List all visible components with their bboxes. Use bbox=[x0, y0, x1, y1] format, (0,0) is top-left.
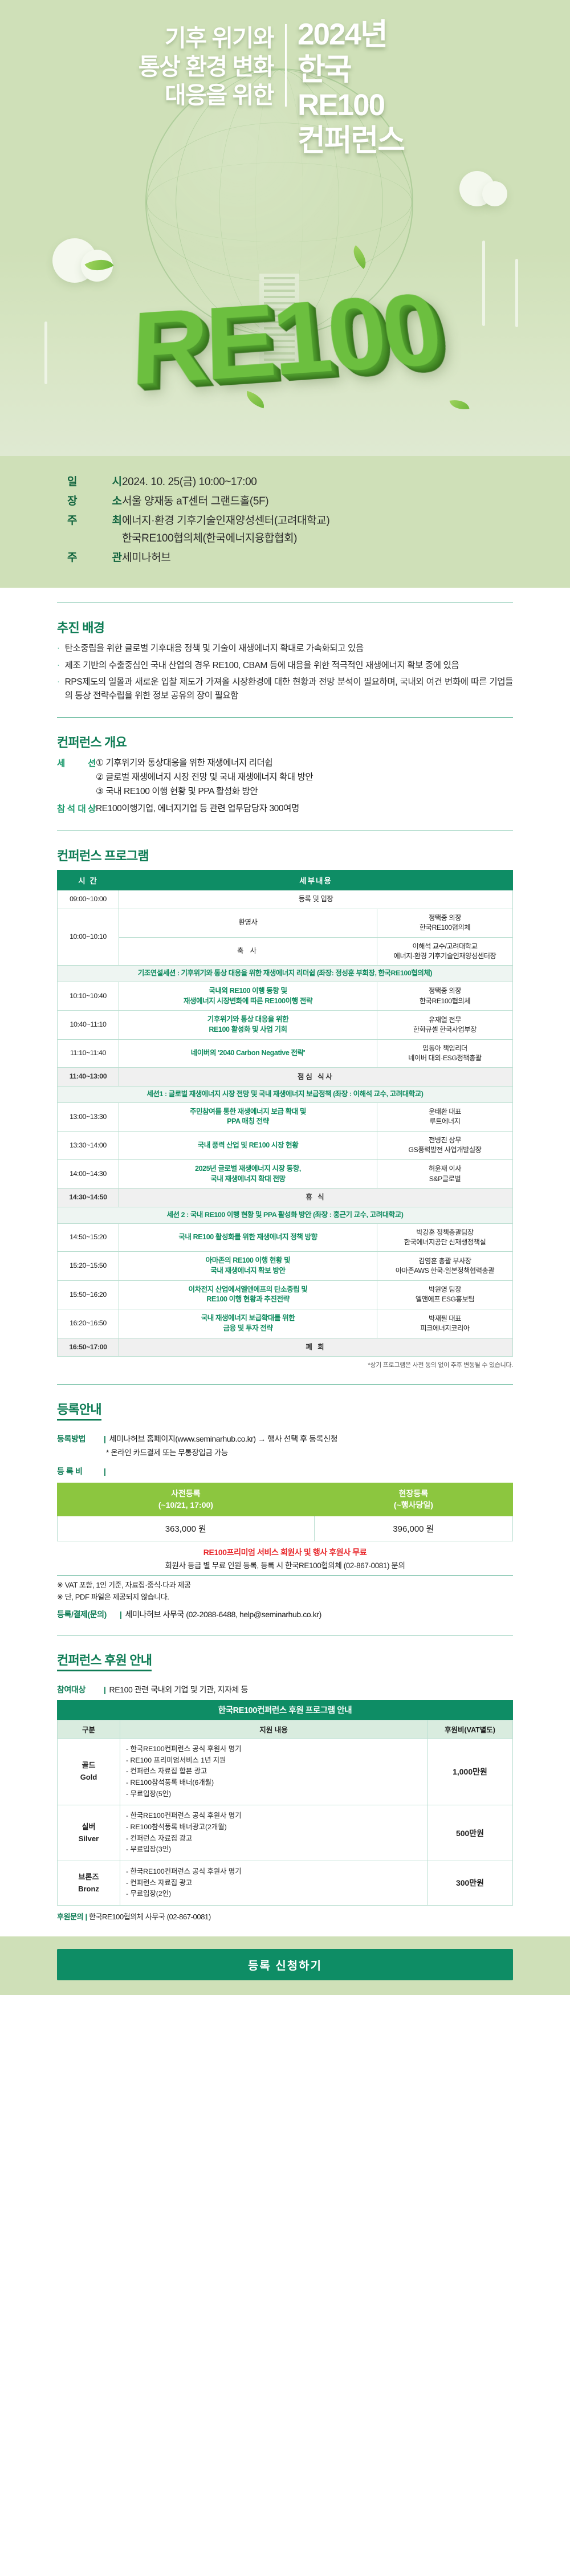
table-row: 16:20~16:50 국내 재생에너지 보급확대를 위한 금융 및 투자 전략… bbox=[58, 1309, 513, 1338]
overview-target-row: 참 석 대 상 RE100이행기업, 에너지기업 등 관련 업무담당자 300여… bbox=[57, 802, 513, 816]
re100-logo-graphic: RE100 bbox=[22, 258, 552, 418]
fee-value-onsite: 396,000 원 bbox=[314, 1516, 512, 1541]
label-separator-icon: | bbox=[104, 1685, 106, 1694]
table-row: 10:00~10:10 환영사 정택중 의장 한국RE100협의체 bbox=[58, 909, 513, 937]
program-speaker: 임동아 책임리더 네이버 대외·ESG정책총괄 bbox=[377, 1039, 513, 1068]
fee-header-early: 사전등록 (~10/21, 17:00) bbox=[58, 1483, 315, 1516]
registration-divider bbox=[57, 1384, 513, 1385]
fee-free-notice: RE100프리미엄 서비스 회원사 및 행사 후원사 무료 bbox=[57, 1541, 513, 1558]
table-row: 10:40~11:10 기후위기와 통상 대응을 위한 RE100 활성화 및 … bbox=[58, 1011, 513, 1040]
program-topic: 국내 재생에너지 보급확대를 위한 금융 및 투자 전략 bbox=[119, 1309, 377, 1338]
event-info-value-date: 2024. 10. 25(금) 10:00~17:00 bbox=[122, 473, 256, 489]
leaf-icon bbox=[450, 397, 470, 412]
registration-fee-row: 등 록 비 | bbox=[57, 1466, 513, 1477]
program-time: 13:00~13:30 bbox=[58, 1102, 119, 1132]
re100-logo-text: RE100 bbox=[129, 273, 448, 410]
program-time: 14:50~15:20 bbox=[58, 1223, 119, 1252]
label-separator-icon: | bbox=[104, 1467, 106, 1476]
sponsorship-eligibility-value: RE100 관련 국내외 기업 및 기관, 지자체 등 bbox=[109, 1684, 248, 1695]
background-bullet-item: · 탄소중립을 위한 글로벌 기후대응 정책 및 기술이 재생에너지 확대로 가… bbox=[57, 642, 513, 656]
sponsorship-header-row: 구분 지원 내용 후원비(VAT별도) bbox=[58, 1720, 513, 1739]
table-row: 09:00~10:00 등록 및 입장 bbox=[58, 890, 513, 909]
fee-table: 사전등록 (~10/21, 17:00) 현장등록 (~행사당일) 363,00… bbox=[57, 1483, 513, 1541]
fee-table-head: 사전등록 (~10/21, 17:00) 현장등록 (~행사당일) bbox=[58, 1483, 513, 1516]
table-row: 14:50~15:20 국내 RE100 활성화를 위한 재생에너지 정책 방향… bbox=[58, 1223, 513, 1252]
label-separator-icon: | bbox=[104, 1434, 106, 1443]
program-topic: 2025년 글로벌 재생에너지 시장 동향, 국내 재생에너지 확대 전망 bbox=[119, 1159, 377, 1189]
background-bullet-text: 탄소중립을 위한 글로벌 기후대응 정책 및 기술이 재생에너지 확대로 가속화… bbox=[65, 642, 364, 656]
sponsorship-price-bronze: 300만원 bbox=[427, 1861, 513, 1906]
cta-section: 등록 신청하기 bbox=[0, 1936, 570, 1995]
background-bullet-text: 제조 기반의 수출중심인 국내 산업의 경우 RE100, CBAM 등에 대응… bbox=[65, 659, 459, 673]
program-topic: 환영사 bbox=[119, 909, 377, 937]
bullet-dot-icon: · bbox=[57, 659, 60, 673]
program-note: *상기 프로그램은 사전 동의 없이 추후 변동될 수 있습니다. bbox=[57, 1360, 513, 1369]
program-speaker: 유재열 전무 한화큐셀 한국사업부장 bbox=[377, 1011, 513, 1040]
hero-year-line-1: 2024년 bbox=[298, 17, 404, 52]
sponsorship-benefits-silver: - 한국RE100컨퍼런스 공식 후원사 명기 - RE100참석풍록 배너광고… bbox=[120, 1805, 427, 1861]
fee-table-body: 363,000 원 396,000 원 bbox=[58, 1516, 513, 1541]
hero-banner: 기후 위기와 통상 환경 변화 대응을 위한 2024년 한국 RE100 컨퍼… bbox=[0, 0, 570, 456]
sponsorship-contact-row: 후원문의 | 한국RE100협의체 사무국 (02-867-0081) bbox=[57, 1911, 513, 1922]
registration-note-item: ※ VAT 포함, 1인 기준, 자료집·중식·다과 제공 bbox=[57, 1580, 513, 1592]
sponsorship-eligibility-row: 참여대상 | RE100 관련 국내외 기업 및 기관, 지자체 등 bbox=[57, 1684, 513, 1695]
overview-session-item: ① 기후위기와 통상대응을 위한 재생에너지 리더쉽 bbox=[96, 756, 313, 770]
program-speaker: 정택중 의장 한국RE100협의체 bbox=[377, 909, 513, 937]
hero-title: 기후 위기와 통상 환경 변화 대응을 위한 bbox=[74, 24, 274, 109]
background-bullet-item: · RPS제도의 일몰과 새로운 입찰 제도가 가져올 시장환경에 대한 현황과… bbox=[57, 675, 513, 702]
program-speaker: 전병진 상무 GS풍력발전 사업개발실장 bbox=[377, 1132, 513, 1160]
program-topic: 주민참여를 통한 재생에너지 보급 확대 및 PPA 매칭 전략 bbox=[119, 1102, 377, 1132]
registration-fee-label: 등 록 비 bbox=[57, 1466, 100, 1477]
sponsorship-price-gold: 1,000만원 bbox=[427, 1739, 513, 1805]
registration-contact-row: 등록/결제(문의) | 세미나허브 사무국 (02-2088-6488, hel… bbox=[57, 1609, 513, 1620]
hero-title-line-2: 통상 환경 변화 bbox=[74, 52, 274, 81]
program-time: 16:20~16:50 bbox=[58, 1309, 119, 1338]
registration-notes: ※ VAT 포함, 1인 기준, 자료집·중식·다과 제공 ※ 단, PDF 파… bbox=[57, 1580, 513, 1604]
program-speaker: 허윤재 이사 S&P글로벌 bbox=[377, 1159, 513, 1189]
program-session-header-row: 기조연설세션 : 기후위기와 통상 대응을 위한 재생에너지 리더쉽 (좌장: … bbox=[58, 966, 513, 982]
table-row: 15:20~15:50 아마존의 RE100 이행 현황 및 국내 재생에너지 … bbox=[58, 1252, 513, 1281]
registration-note-item: ※ 단, PDF 파일은 제공되지 않습니다. bbox=[57, 1592, 513, 1604]
event-info-row-organizer: 주 관 세미나허브 bbox=[0, 549, 570, 564]
program-session-label: 세션 2 : 국내 RE100 이행 현황 및 PPA 활성화 방안 (좌장 :… bbox=[58, 1207, 513, 1223]
registration-contact-value: 세미나허브 사무국 (02-2088-6488, help@seminarhub… bbox=[125, 1609, 321, 1620]
program-speaker: 박강훈 정책총괄팀장 한국에너지공단 신재생정책실 bbox=[377, 1223, 513, 1252]
sponsorship-table-body: 골드 Gold - 한국RE100컨퍼런스 공식 후원사 명기 - RE100 … bbox=[58, 1739, 513, 1906]
program-divider bbox=[57, 831, 513, 831]
event-info-row-date: 일 시 2024. 10. 25(금) 10:00~17:00 bbox=[0, 473, 570, 489]
table-row: 13:30~14:00 국내 풍력 산업 및 RE100 시장 현황 전병진 상… bbox=[58, 1132, 513, 1160]
event-info-value-host2: 한국RE100협의체(한국에너지융합협회) bbox=[122, 530, 297, 545]
sponsorship-col-benefit: 지원 내용 bbox=[120, 1720, 427, 1739]
background-bullet-list: · 탄소중립을 위한 글로벌 기후대응 정책 및 기술이 재생에너지 확대로 가… bbox=[57, 642, 513, 702]
sponsorship-table-head: 구분 지원 내용 후원비(VAT별도) bbox=[58, 1720, 513, 1739]
sponsorship-col-grade: 구분 bbox=[58, 1720, 120, 1739]
program-topic: 네이버의 '2040 Carbon Negative 전략' bbox=[119, 1039, 377, 1068]
cloud-icon bbox=[482, 181, 507, 206]
sponsorship-table: 한국RE100컨퍼런스 후원 프로그램 안내 구분 지원 내용 후원비(VAT별… bbox=[57, 1700, 513, 1906]
program-time: 14:30~14:50 bbox=[58, 1189, 119, 1207]
event-info-value-organizer: 세미나허브 bbox=[122, 549, 170, 564]
registration-contact-label: 등록/결제(문의) bbox=[57, 1609, 116, 1620]
overview-target-label: 참 석 대 상 bbox=[57, 802, 96, 816]
program-break-row: 14:30~14:50 휴 식 bbox=[58, 1189, 513, 1207]
conference-poster-page: 기후 위기와 통상 환경 변화 대응을 위한 2024년 한국 RE100 컨퍼… bbox=[0, 0, 570, 1995]
sponsorship-contact-label: 후원문의 bbox=[57, 1912, 83, 1921]
program-time: 10:40~11:10 bbox=[58, 1011, 119, 1040]
program-header-row: 시 간 세부내용 bbox=[58, 870, 513, 890]
hero-year-line-2: 한국 bbox=[298, 52, 404, 88]
program-speaker: 박원영 팀장 엘앤에프 ESG홍보팀 bbox=[377, 1280, 513, 1309]
registration-method-value: 세미나허브 홈페이지(www.seminarhub.co.kr) → 행사 선택… bbox=[109, 1433, 338, 1444]
registration-section-title: 등록안내 bbox=[57, 1399, 101, 1421]
program-time: 16:50~17:00 bbox=[58, 1338, 119, 1357]
table-row: 14:00~14:30 2025년 글로벌 재생에너지 시장 동향, 국내 재생… bbox=[58, 1159, 513, 1189]
program-topic: 점심 식사 bbox=[119, 1068, 513, 1086]
registration-method-row: 등록방법 | 세미나허브 홈페이지(www.seminarhub.co.kr) … bbox=[57, 1433, 513, 1444]
table-row: 15:50~16:20 이차전지 산업에서엘앤에프의 탄소중립 및 RE100 … bbox=[58, 1280, 513, 1309]
background-section-title: 추진 배경 bbox=[57, 618, 513, 636]
table-row: 축 사 이해석 교수/고려대학교 에너지·환경 기후기술인재양성센터장 bbox=[58, 937, 513, 966]
hero-year-line-3: RE100 bbox=[298, 88, 404, 123]
hero-event-name: 2024년 한국 RE100 컨퍼런스 bbox=[298, 17, 404, 158]
program-col-detail: 세부내용 bbox=[119, 870, 513, 890]
program-speaker: 이해석 교수/고려대학교 에너지·환경 기후기술인재양성센터장 bbox=[377, 937, 513, 966]
hero-year-line-4: 컨퍼런스 bbox=[298, 123, 404, 158]
bullet-dot-icon: · bbox=[57, 642, 60, 656]
program-table-body: 09:00~10:00 등록 및 입장 10:00~10:10 환영사 정택중 … bbox=[58, 890, 513, 1357]
overview-session-item: ③ 국내 RE100 이행 현황 및 PPA 활성화 방안 bbox=[96, 785, 313, 799]
register-button[interactable]: 등록 신청하기 bbox=[57, 1949, 513, 1980]
program-time: 11:40~13:00 bbox=[58, 1068, 119, 1086]
event-info-label-venue: 장 소 bbox=[67, 493, 122, 508]
program-session-header-row: 세션 2 : 국내 RE100 이행 현황 및 PPA 활성화 방안 (좌장 :… bbox=[58, 1207, 513, 1223]
program-topic: 폐 회 bbox=[119, 1338, 513, 1357]
sponsorship-col-price: 후원비(VAT별도) bbox=[427, 1720, 513, 1739]
table-row: 363,000 원 396,000 원 bbox=[58, 1516, 513, 1541]
background-divider bbox=[57, 603, 513, 603]
program-speaker: 박재필 대표 피크에너지코리아 bbox=[377, 1309, 513, 1338]
fee-header-row: 사전등록 (~10/21, 17:00) 현장등록 (~행사당일) bbox=[58, 1483, 513, 1516]
program-speaker: 윤태환 대표 루트에너지 bbox=[377, 1102, 513, 1132]
bullet-dot-icon: · bbox=[57, 675, 60, 702]
label-separator-icon: | bbox=[120, 1610, 122, 1619]
sponsorship-table-caption: 한국RE100컨퍼런스 후원 프로그램 안내 bbox=[57, 1700, 513, 1720]
overview-divider bbox=[57, 717, 513, 718]
sponsorship-benefits-bronze: - 한국RE100컨퍼런스 공식 후원사 명기 - 컨퍼런스 자료집 광고 - … bbox=[120, 1861, 427, 1906]
program-topic: 아마존의 RE100 이행 현황 및 국내 재생에너지 확보 방안 bbox=[119, 1252, 377, 1281]
program-time: 10:00~10:10 bbox=[58, 909, 119, 965]
sponsorship-price-silver: 500만원 bbox=[427, 1805, 513, 1861]
program-topic: 이차전지 산업에서엘앤에프의 탄소중립 및 RE100 이행 현황과 추진전략 bbox=[119, 1280, 377, 1309]
sponsorship-eligibility-label: 참여대상 bbox=[57, 1684, 100, 1695]
program-topic: 축 사 bbox=[119, 937, 377, 966]
program-topic: 휴 식 bbox=[119, 1189, 513, 1207]
program-topic: 국내 풍력 산업 및 RE100 시장 현황 bbox=[119, 1132, 377, 1160]
background-bullet-text: RPS제도의 일몰과 새로운 입찰 제도가 가져올 시장환경에 대한 현황과 전… bbox=[65, 675, 513, 702]
program-session-label: 기조연설세션 : 기후위기와 통상 대응을 위한 재생에너지 리더쉽 (좌장: … bbox=[58, 966, 513, 982]
overview-section-title: 컨퍼런스 개요 bbox=[57, 732, 513, 751]
program-section-title: 컨퍼런스 프로그램 bbox=[57, 846, 513, 864]
program-time: 14:00~14:30 bbox=[58, 1159, 119, 1189]
sponsorship-grade-gold: 골드 Gold bbox=[58, 1739, 120, 1805]
hero-divider bbox=[285, 24, 287, 107]
fee-notes-divider bbox=[57, 1575, 513, 1576]
program-speaker: 김영훈 총괄 부사장 아마존AWS 한국·일본정책협력총괄 bbox=[377, 1252, 513, 1281]
program-time: 10:10~10:40 bbox=[58, 982, 119, 1011]
event-info-value-host: 에너지·환경 기후기술인재양성센터(고려대학교) bbox=[122, 512, 329, 527]
event-info-row-host: 주 최 에너지·환경 기후기술인재양성센터(고려대학교) bbox=[0, 512, 570, 527]
fee-value-early: 363,000 원 bbox=[58, 1516, 315, 1541]
sponsorship-divider bbox=[57, 1635, 513, 1635]
sponsorship-grade-bronze: 브론즈 Bronz bbox=[58, 1861, 120, 1906]
fee-free-notice-sub: 회원사 등급 별 무료 인원 등록, 등록 시 한국RE100협의체 (02-8… bbox=[57, 1558, 513, 1575]
hero-title-line-1: 기후 위기와 bbox=[74, 24, 274, 52]
program-time: 09:00~10:00 bbox=[58, 890, 119, 909]
table-row: 11:10~11:40 네이버의 '2040 Carbon Negative 전… bbox=[58, 1039, 513, 1068]
sponsorship-contact-value: 한국RE100협의체 사무국 (02-867-0081) bbox=[89, 1912, 211, 1921]
program-time: 11:10~11:40 bbox=[58, 1039, 119, 1068]
program-topic: 국내외 RE100 이행 동향 및 재생에너지 시장변화에 따른 RE100이행… bbox=[119, 982, 377, 1011]
table-row: 10:10~10:40 국내외 RE100 이행 동향 및 재생에너지 시장변화… bbox=[58, 982, 513, 1011]
program-session-label: 세션1 : 글로벌 재생에너지 시장 전망 및 국내 재생에너지 보급정책 (좌… bbox=[58, 1086, 513, 1103]
program-topic: 기후위기와 통상 대응을 위한 RE100 활성화 및 사업 기회 bbox=[119, 1011, 377, 1040]
event-info-label-host: 주 최 bbox=[67, 512, 122, 527]
table-row: 브론즈 Bronz - 한국RE100컨퍼런스 공식 후원사 명기 - 컨퍼런스… bbox=[58, 1861, 513, 1906]
program-topic: 국내 RE100 활성화를 위한 재생에너지 정책 방향 bbox=[119, 1223, 377, 1252]
label-separator-icon: | bbox=[85, 1912, 87, 1921]
event-info-label-organizer: 주 관 bbox=[67, 549, 122, 564]
overview-sessions-row: 세 션 ① 기후위기와 통상대응을 위한 재생에너지 리더쉽 ② 글로벌 재생에… bbox=[57, 756, 513, 799]
program-table: 시 간 세부내용 09:00~10:00 등록 및 입장 10:00~10:10… bbox=[57, 870, 513, 1357]
overview-target-value: RE100이행기업, 에너지기업 등 관련 업무담당자 300여명 bbox=[96, 802, 299, 816]
program-time: 15:20~15:50 bbox=[58, 1252, 119, 1281]
program-col-time: 시 간 bbox=[58, 870, 119, 890]
overview-session-item: ② 글로벌 재생에너지 시장 전망 및 국내 재생에너지 확대 방안 bbox=[96, 771, 313, 784]
overview-sessions-body: ① 기후위기와 통상대응을 위한 재생에너지 리더쉽 ② 글로벌 재생에너지 시… bbox=[96, 756, 313, 799]
table-row: 골드 Gold - 한국RE100컨퍼런스 공식 후원사 명기 - RE100 … bbox=[58, 1739, 513, 1805]
program-table-head: 시 간 세부내용 bbox=[58, 870, 513, 890]
program-break-row: 16:50~17:00 폐 회 bbox=[58, 1338, 513, 1357]
event-info-row-host2: ·· 한국RE100협의체(한국에너지융합협회) bbox=[0, 530, 570, 545]
program-time: 15:50~16:20 bbox=[58, 1280, 119, 1309]
registration-method-subnote: * 온라인 카드결제 또는 무통장입금 가능 bbox=[106, 1446, 513, 1458]
program-speaker: 정택중 의장 한국RE100협의체 bbox=[377, 982, 513, 1011]
hero-title-line-3: 대응을 위한 bbox=[74, 81, 274, 109]
sponsorship-grade-silver: 실버 Silver bbox=[58, 1805, 120, 1861]
table-row: 실버 Silver - 한국RE100컨퍼런스 공식 후원사 명기 - RE10… bbox=[58, 1805, 513, 1861]
registration-method-label: 등록방법 bbox=[57, 1433, 100, 1444]
overview-sessions-label: 세 션 bbox=[57, 756, 96, 799]
event-info-label-date: 일 시 bbox=[67, 473, 122, 489]
program-break-row: 11:40~13:00 점심 식사 bbox=[58, 1068, 513, 1086]
fee-header-onsite: 현장등록 (~행사당일) bbox=[314, 1483, 512, 1516]
main-content: 추진 배경 · 탄소중립을 위한 글로벌 기후대응 정책 및 기술이 재생에너지… bbox=[0, 603, 570, 1922]
sponsorship-benefits-gold: - 한국RE100컨퍼런스 공식 후원사 명기 - RE100 프리미엄서비스 … bbox=[120, 1739, 427, 1805]
background-bullet-item: · 제조 기반의 수출중심인 국내 산업의 경우 RE100, CBAM 등에 … bbox=[57, 659, 513, 673]
program-time: 13:30~14:00 bbox=[58, 1132, 119, 1160]
table-row: 13:00~13:30 주민참여를 통한 재생에너지 보급 확대 및 PPA 매… bbox=[58, 1102, 513, 1132]
program-session-header-row: 세션1 : 글로벌 재생에너지 시장 전망 및 국내 재생에너지 보급정책 (좌… bbox=[58, 1086, 513, 1103]
sponsorship-section-title: 컨퍼런스 후원 안내 bbox=[57, 1650, 152, 1671]
event-info-value-venue: 서울 양재동 aT센터 그랜드홀(5F) bbox=[122, 493, 268, 508]
program-topic: 등록 및 입장 bbox=[119, 890, 513, 909]
event-info-row-venue: 장 소 서울 양재동 aT센터 그랜드홀(5F) bbox=[0, 493, 570, 508]
event-info-bar: 일 시 2024. 10. 25(금) 10:00~17:00 장 소 서울 양… bbox=[0, 456, 570, 588]
